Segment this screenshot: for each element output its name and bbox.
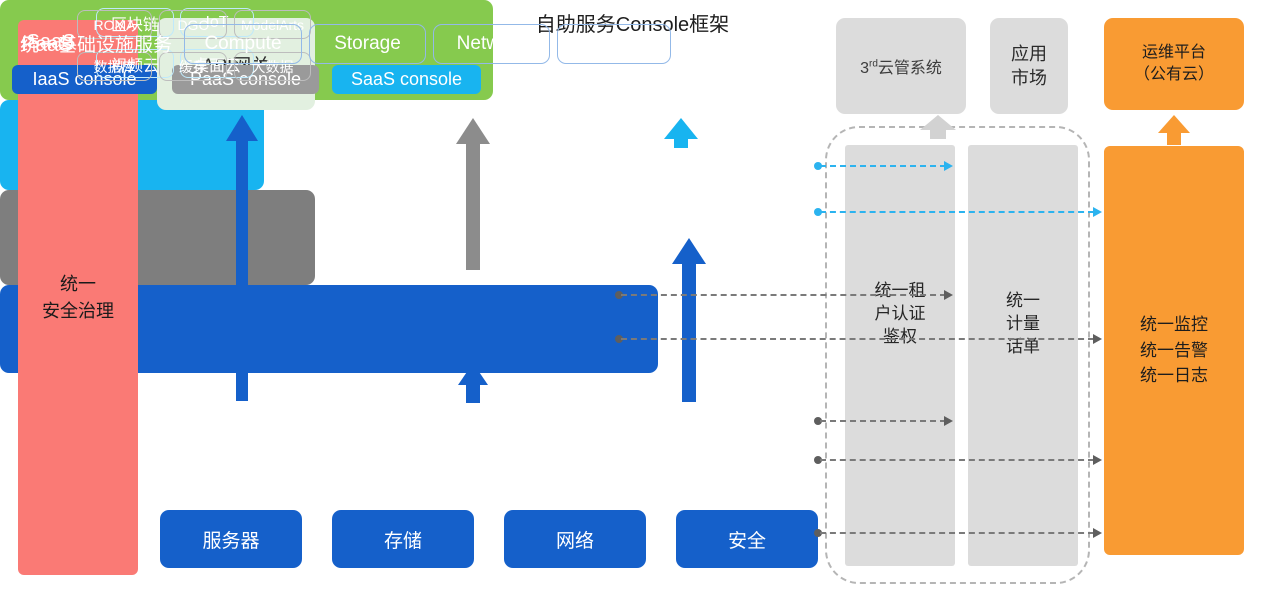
bottom-tile-storage: 存储 — [332, 510, 474, 568]
arrow-infra-to-api-gateway — [226, 115, 258, 401]
third-cloud-superscript: rd — [869, 59, 878, 70]
ops-bar-line-2: 统一告警 — [1140, 338, 1208, 364]
unified-auth-column — [845, 145, 955, 566]
connector-infra-to-ops — [820, 459, 1094, 461]
arrow-saas-to-console — [664, 118, 698, 148]
arrow-infra-to-saas — [672, 238, 706, 402]
connector-arrowhead-paas-auth — [944, 290, 953, 300]
ops-monitoring-bar: 统一监控 统一告警 统一日志 — [1104, 146, 1244, 555]
security-line-1: 统一 — [42, 271, 114, 297]
infra-chip-cce: CCE — [557, 24, 671, 64]
bottom-tile-network: 网络 — [504, 510, 646, 568]
connector-arrowhead-infra-ops — [1093, 455, 1102, 465]
ops-platform-line-2: （公有云） — [1134, 64, 1214, 86]
infra-bar-label: 统一基础设施服务 — [12, 30, 180, 57]
architecture-diagram: 统一 安全治理 API网关 自助服务Console框架 IaaS console… — [0, 0, 1265, 605]
auth-line-2: 户认证 — [845, 303, 955, 326]
infra-chip-compute: Compute — [184, 24, 302, 64]
connector-arrowhead-bottom-ops — [1093, 528, 1102, 538]
connector-arrowhead-saas-ops — [1093, 207, 1102, 217]
third-cloud-suffix: 云管系统 — [878, 60, 942, 77]
bottom-tile-server: 服务器 — [160, 510, 302, 568]
meter-line-2: 计量 — [968, 313, 1078, 336]
ops-platform-box: 运维平台 （公有云） — [1104, 18, 1244, 110]
chip-saas-console: SaaS console — [332, 65, 481, 94]
infra-chip-storage: Storage — [309, 24, 426, 64]
app-market-line-2: 市场 — [1011, 66, 1047, 90]
connector-saas-to-auth — [820, 165, 946, 167]
arrow-infra-to-paas — [458, 363, 488, 403]
third-cloud-prefix: 3 — [860, 60, 869, 77]
unified-metering-column-label: 统一 计量 话单 — [968, 290, 1078, 359]
infra-chip-network: Network — [433, 24, 550, 64]
app-market-line-1: 应用 — [1011, 42, 1047, 66]
third-party-cloud-management-box: 3rd云管系统 — [836, 18, 966, 114]
meter-line-1: 统一 — [968, 290, 1078, 313]
connector-bottom-to-ops — [820, 532, 1094, 534]
connector-arrowhead-infra-auth — [944, 416, 953, 426]
ops-platform-line-1: 运维平台 — [1134, 42, 1214, 64]
bottom-tile-security: 安全 — [676, 510, 818, 568]
connector-arrowhead-paas-ops — [1093, 334, 1102, 344]
connector-saas-to-ops — [820, 211, 1094, 213]
arrow-to-third-cloud — [920, 115, 956, 139]
connector-arrowhead-saas-auth — [944, 161, 953, 171]
third-cloud-label: 3rd云管系统 — [860, 54, 942, 78]
security-governance-bar: 统一 安全治理 — [18, 20, 138, 575]
connector-infra-to-auth — [820, 420, 946, 422]
connector-paas-to-ops — [621, 338, 1094, 340]
ops-bar-line-3: 统一日志 — [1140, 363, 1208, 389]
connector-paas-to-auth — [621, 294, 946, 296]
arrow-to-ops-platform — [1158, 115, 1190, 145]
security-line-2: 安全治理 — [42, 298, 114, 324]
auth-line-1: 统一租 — [845, 280, 955, 303]
ops-bar-line-1: 统一监控 — [1140, 312, 1208, 338]
arrow-paas-to-console — [456, 118, 490, 270]
app-market-box: 应用 市场 — [990, 18, 1068, 114]
